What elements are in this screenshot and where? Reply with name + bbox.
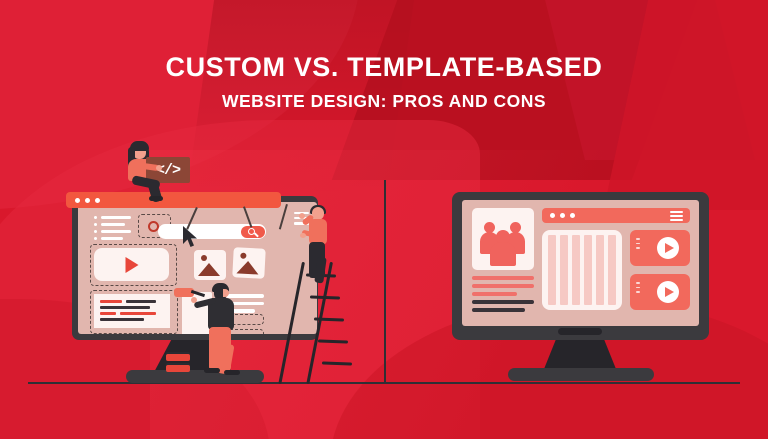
- browser-dot: [85, 198, 90, 203]
- hamburger-menu-icon[interactable]: [670, 211, 683, 223]
- group-of-people-icon: [472, 208, 534, 270]
- play-icon: [125, 257, 138, 273]
- paint-roller-icon: [174, 288, 204, 300]
- banner-title-block: CUSTOM VS. TEMPLATE-BASED WEBSITE DESIGN…: [0, 52, 768, 112]
- shoe: [149, 196, 163, 201]
- browser-dot: [75, 198, 80, 203]
- browser-dot: [560, 213, 565, 218]
- image-placeholder-card[interactable]: [232, 247, 266, 279]
- banner-canvas: CUSTOM VS. TEMPLATE-BASED WEBSITE DESIGN…: [0, 0, 768, 439]
- right-text-lines: [472, 276, 534, 316]
- right-browser-bar: [542, 208, 690, 223]
- browser-dot: [570, 213, 575, 218]
- right-monitor-stand-base: [508, 368, 654, 381]
- search-button[interactable]: [241, 226, 265, 238]
- browser-dot: [95, 198, 100, 203]
- right-monitor-screen: [462, 200, 699, 326]
- mountain-icon: [198, 263, 220, 276]
- play-icon: [665, 287, 674, 297]
- list-lines-widget: [94, 216, 134, 244]
- sun-icon: [201, 255, 207, 261]
- paint-cans: [166, 352, 192, 376]
- face: [223, 289, 229, 297]
- video-card[interactable]: [630, 230, 690, 266]
- page-title-line-2: WEBSITE DESIGN: PROS AND CONS: [0, 91, 768, 112]
- page-title-line-1: CUSTOM VS. TEMPLATE-BASED: [0, 52, 768, 82]
- striped-content-panel: [542, 230, 622, 310]
- hand: [156, 165, 162, 171]
- play-button[interactable]: [657, 281, 679, 303]
- play-button[interactable]: [657, 237, 679, 259]
- mountain-icon: [236, 260, 259, 274]
- video-player-card[interactable]: [94, 248, 169, 281]
- hand: [299, 213, 305, 219]
- shoe: [224, 370, 240, 375]
- cursor-arrow-icon: [183, 226, 199, 248]
- magnifier-icon: [248, 228, 255, 235]
- video-card[interactable]: [630, 274, 690, 310]
- woman-sitting-coding: </>: [118, 139, 190, 201]
- man-with-paint-roller: [196, 282, 252, 384]
- hand: [300, 233, 306, 238]
- man-on-ladder: [300, 205, 340, 285]
- sun-icon: [240, 253, 246, 259]
- mini-lines: [636, 238, 640, 252]
- image-placeholder-card[interactable]: [194, 250, 226, 280]
- mini-lines: [636, 282, 640, 296]
- right-monitor-chin-button: [558, 328, 602, 335]
- code-text-block: [94, 294, 170, 328]
- play-icon: [665, 243, 674, 253]
- shoe: [204, 368, 220, 373]
- browser-dot: [550, 213, 555, 218]
